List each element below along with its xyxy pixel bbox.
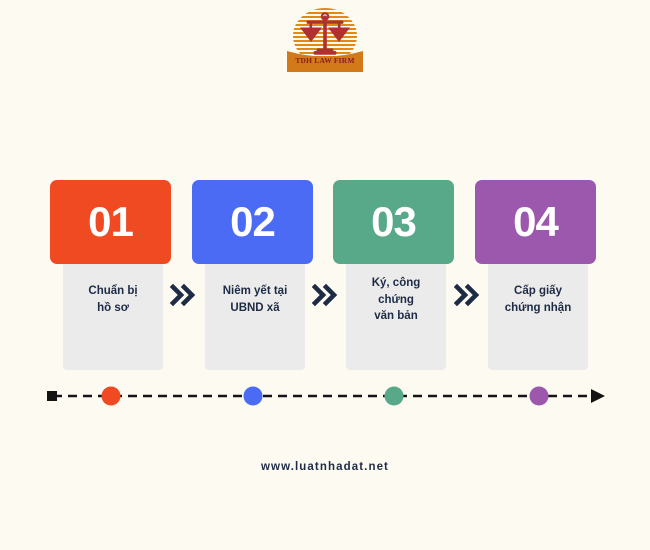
step-header-03: 03 bbox=[333, 180, 454, 264]
step-number-02: 02 bbox=[230, 201, 275, 243]
process-timeline bbox=[45, 382, 610, 410]
step-label-02: Niêm yết tại UBND xã bbox=[223, 283, 288, 316]
step-header-02: 02 bbox=[192, 180, 313, 264]
double-chevron-right-icon bbox=[309, 280, 339, 310]
step-label-04: Cấp giấy chứng nhận bbox=[505, 283, 571, 316]
timeline-dot-03[interactable] bbox=[385, 387, 404, 406]
process-step-04[interactable]: Cấp giấy chứng nhận 04 bbox=[475, 180, 596, 370]
step-number-03: 03 bbox=[371, 201, 416, 243]
tdh-law-firm-logo: TDH LAW FIRM bbox=[285, 8, 365, 74]
timeline-dot-04[interactable] bbox=[530, 387, 549, 406]
logo-block: TDH LAW FIRM bbox=[0, 8, 650, 74]
process-step-01[interactable]: Chuẩn bị hồ sơ 01 bbox=[50, 180, 171, 370]
timeline-end-arrowhead-marker bbox=[591, 389, 605, 403]
logo-brand-text: TDH LAW FIRM bbox=[285, 56, 365, 65]
footer-website-url[interactable]: www.luatnhadat.net bbox=[0, 461, 650, 473]
double-chevron-right-icon bbox=[451, 280, 481, 310]
step-number-04: 04 bbox=[513, 201, 558, 243]
process-step-03[interactable]: Ký, công chứng văn bản 03 bbox=[333, 180, 454, 370]
step-label-01: Chuẩn bị hồ sơ bbox=[88, 283, 137, 316]
step-header-01: 01 bbox=[50, 180, 171, 264]
double-chevron-right-icon bbox=[167, 280, 197, 310]
process-steps: Chuẩn bị hồ sơ 01 Niêm yết tại UBND xã 0… bbox=[50, 180, 600, 370]
step-header-04: 04 bbox=[475, 180, 596, 264]
timeline-dot-01[interactable] bbox=[102, 387, 121, 406]
timeline-start-square-marker bbox=[47, 391, 57, 401]
step-number-01: 01 bbox=[88, 201, 133, 243]
step-label-03: Ký, công chứng văn bản bbox=[372, 275, 421, 325]
timeline-dot-02[interactable] bbox=[244, 387, 263, 406]
process-step-02[interactable]: Niêm yết tại UBND xã 02 bbox=[192, 180, 313, 370]
